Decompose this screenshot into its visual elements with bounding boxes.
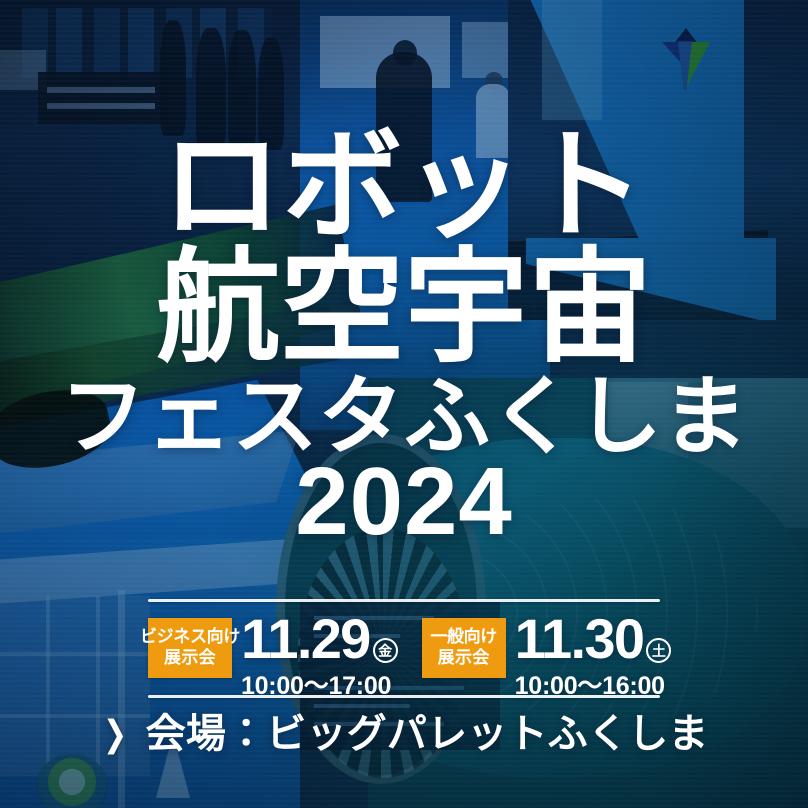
poster-content: ロボット 航空宇宙 フェスタふくしま 2024 ビジネス向け 展示会 11.29… [0,0,808,808]
date-business-row: 11.29 金 [241,612,398,665]
badge-public-line2: 展示会 [438,648,490,669]
date-public-value: 11.30 [515,612,644,665]
title-line-3: フェスタふくしま [0,375,808,459]
badge-public-expo: 一般向け 展示会 [422,618,506,678]
badge-business-expo: ビジネス向け 展示会 [148,618,232,678]
title-year: 2024 [0,455,808,549]
day-of-week-public: 土 [646,638,671,663]
event-poster: ロボット 航空宇宙 フェスタふくしま 2024 ビジネス向け 展示会 11.29… [0,0,808,808]
event-title: ロボット 航空宇宙 フェスタふくしま 2024 [0,128,808,549]
event-dates: ビジネス向け 展示会 11.29 金 10:00〜17:00 一般向け 展示会 [148,612,668,686]
date-text-business: 11.29 金 10:00〜17:00 [241,612,398,702]
date-public-row: 11.30 土 [515,612,672,665]
date-group-public: 一般向け 展示会 11.30 土 10:00〜16:00 [422,612,672,702]
venue-text: 会場：ビッグパレットふくしま [146,712,709,756]
date-group-business: ビジネス向け 展示会 11.29 金 10:00〜17:00 [148,612,398,702]
chevron-right-icon: ❯ [103,716,127,752]
date-text-public: 11.30 土 10:00〜16:00 [515,612,672,702]
badge-public-line1: 一般向け [430,627,497,648]
divider-top [148,599,660,602]
title-line-1: ロボット [0,128,808,246]
badge-business-line2: 展示会 [164,648,216,669]
divider-bottom [148,695,660,698]
title-line-2: 航空宇宙 [0,248,808,370]
venue-line: ❯ 会場：ビッグパレットふくしま [0,712,808,756]
date-business-value: 11.29 [241,612,370,665]
day-of-week-business: 金 [373,638,398,663]
badge-business-line1: ビジネス向け [140,627,240,648]
